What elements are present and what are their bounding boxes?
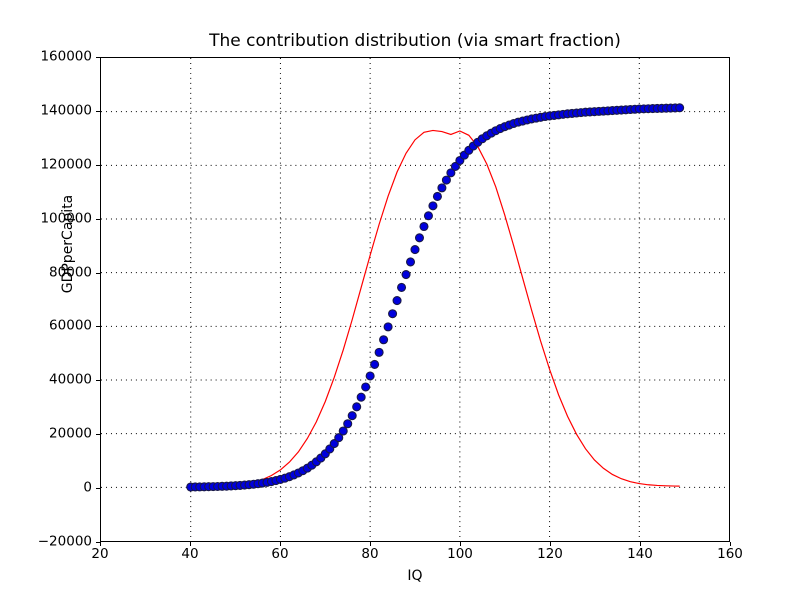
data-point xyxy=(415,234,423,242)
y-tick-mark xyxy=(96,273,100,274)
data-point xyxy=(384,323,392,331)
data-point xyxy=(393,297,401,305)
y-tick-label: 100000 xyxy=(22,212,92,225)
data-point xyxy=(407,258,415,266)
x-tick-label: 140 xyxy=(610,547,670,561)
chart-figure: The contribution distribution (via smart… xyxy=(0,0,800,600)
data-point xyxy=(433,192,441,200)
data-point xyxy=(420,223,428,231)
plot-area xyxy=(100,57,730,542)
data-point xyxy=(429,202,437,210)
y-tick-mark xyxy=(96,165,100,166)
chart-title: The contribution distribution (via smart… xyxy=(100,30,730,52)
x-tick-mark xyxy=(190,542,191,546)
data-point xyxy=(411,246,419,254)
x-axis-label: IQ xyxy=(100,568,730,584)
x-tick-mark xyxy=(100,542,101,546)
x-tick-mark xyxy=(640,542,641,546)
data-point xyxy=(366,372,374,380)
x-tick-mark xyxy=(280,542,281,546)
y-tick-mark xyxy=(96,380,100,381)
y-tick-label: 60000 xyxy=(22,320,92,333)
x-tick-label: 20 xyxy=(70,547,130,561)
x-tick-label: 160 xyxy=(700,547,760,561)
data-series-layer xyxy=(101,58,729,541)
y-tick-mark xyxy=(96,488,100,489)
data-point xyxy=(442,176,450,184)
x-tick-mark xyxy=(370,542,371,546)
x-tick-label: 40 xyxy=(160,547,220,561)
y-tick-label: 80000 xyxy=(22,266,92,279)
x-tick-mark xyxy=(550,542,551,546)
y-tick-label: 160000 xyxy=(22,51,92,64)
data-point xyxy=(438,184,446,192)
x-tick-mark xyxy=(730,542,731,546)
x-axis-tick-labels: 20406080100120140160 xyxy=(100,547,730,567)
data-point xyxy=(389,310,397,318)
data-point xyxy=(371,360,379,368)
y-tick-label: 40000 xyxy=(22,374,92,387)
data-point xyxy=(344,420,352,428)
x-tick-label: 100 xyxy=(430,547,490,561)
series-markers-gdp-per-capita-vs-iq xyxy=(187,104,684,491)
series-line-contribution-distribution xyxy=(191,130,680,487)
y-tick-label: 20000 xyxy=(22,428,92,441)
y-tick-label: 0 xyxy=(22,482,92,495)
data-point xyxy=(348,412,356,420)
y-tick-mark xyxy=(96,57,100,58)
data-point xyxy=(375,348,383,356)
data-point xyxy=(339,427,347,435)
x-tick-label: 80 xyxy=(340,547,400,561)
data-point xyxy=(353,403,361,411)
data-point xyxy=(424,212,432,220)
data-point xyxy=(402,271,410,279)
x-tick-label: 60 xyxy=(250,547,310,561)
y-tick-mark xyxy=(96,434,100,435)
data-point xyxy=(676,104,684,112)
x-tick-label: 120 xyxy=(520,547,580,561)
data-point xyxy=(357,393,365,401)
data-point xyxy=(398,283,406,291)
y-axis-tick-labels: −200000200004000060000800001000001200001… xyxy=(22,57,92,542)
y-tick-mark xyxy=(96,111,100,112)
y-tick-mark xyxy=(96,326,100,327)
y-tick-mark xyxy=(96,219,100,220)
data-point xyxy=(380,336,388,344)
y-tick-label: 120000 xyxy=(22,158,92,171)
x-tick-mark xyxy=(460,542,461,546)
data-point xyxy=(362,383,370,391)
y-tick-label: 140000 xyxy=(22,104,92,117)
